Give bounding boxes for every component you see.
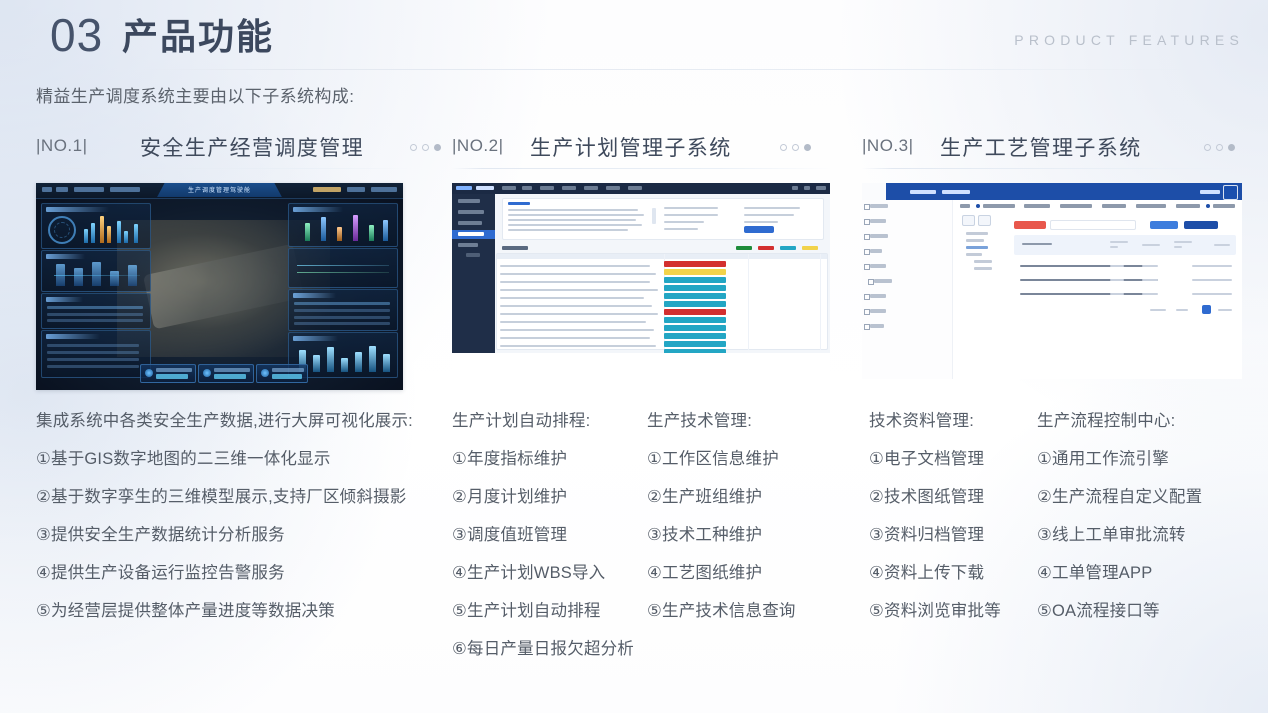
slide-header: 03 产品功能 PRODUCT FEATURES — [0, 0, 1268, 72]
card-1-header: |NO.1| 安全生产经营调度管理 — [36, 132, 411, 166]
card-1-description: 集成系统中各类安全生产数据,进行大屏可视化展示: ①基于GIS数字地图的二三维一… — [36, 402, 436, 630]
card-2-title: 生产计划管理子系统 — [530, 132, 732, 162]
col2b-heading: 生产技术管理: — [647, 402, 837, 440]
card-1-item: ④提供生产设备运行监控告警服务 — [36, 554, 436, 592]
dot-indicator — [422, 144, 429, 151]
col2b-item: ④工艺图纸维护 — [647, 554, 837, 592]
slide-page: 03 产品功能 PRODUCT FEATURES 精益生产调度系统主要由以下子系… — [0, 0, 1268, 713]
card-1-dots — [410, 144, 441, 151]
col2b-item: ②生产班组维护 — [647, 478, 837, 516]
card-1-item: ②基于数字孪生的三维模型展示,支持厂区倾斜摄影 — [36, 478, 436, 516]
col3a-item: ①电子文档管理 — [869, 440, 1039, 478]
lead-paragraph: 精益生产调度系统主要由以下子系统构成: — [36, 84, 354, 110]
card-3-header: |NO.3| 生产工艺管理子系统 — [862, 132, 1244, 166]
col3b-item: ①通用工作流引擎 — [1037, 440, 1247, 478]
col2a-item: ②月度计划维护 — [452, 478, 642, 516]
card-1-item: ③提供安全生产数据统计分析服务 — [36, 516, 436, 554]
feature-card-3: |NO.3| 生产工艺管理子系统 — [862, 132, 1244, 379]
col3b-item: ④工单管理APP — [1037, 554, 1247, 592]
dot-indicator — [804, 144, 811, 151]
feature-card-1: |NO.1| 安全生产经营调度管理 生产调度管理驾驶舱 — [36, 132, 411, 390]
page-title: 产品功能 — [122, 14, 274, 60]
card-1-item: ①基于GIS数字地图的二三维一体化显示 — [36, 440, 436, 478]
dark-production-dashboard-screenshot: 生产调度管理驾驶舱 — [36, 183, 403, 390]
dot-indicator — [434, 144, 441, 151]
dot-indicator — [792, 144, 799, 151]
col3a-item: ⑤资料浏览审批等 — [869, 592, 1039, 630]
col2a-item: ③调度值班管理 — [452, 516, 642, 554]
col2a-item: ⑤生产计划自动排程 — [452, 592, 642, 630]
card-3-number: |NO.3| — [862, 136, 914, 156]
card-2-number: |NO.2| — [452, 136, 504, 156]
card-2-header: |NO.2| 生产计划管理子系统 — [452, 132, 832, 166]
col2a-heading: 生产计划自动排程: — [452, 402, 642, 440]
col2a-item: ⑥每日产量日报欠超分析 — [452, 630, 642, 668]
col3b-heading: 生产流程控制中心: — [1037, 402, 1247, 440]
dot-indicator — [410, 144, 417, 151]
card-3-description-left: 技术资料管理: ①电子文档管理 ②技术图纸管理 ③资料归档管理 ④资料上传下载 … — [869, 402, 1039, 630]
card-3-dots — [1204, 144, 1235, 151]
card-3-title: 生产工艺管理子系统 — [940, 132, 1142, 162]
gantt-production-plan-screenshot — [452, 183, 830, 390]
col3a-heading: 技术资料管理: — [869, 402, 1039, 440]
feature-card-2: |NO.2| 生产计划管理子系统 — [452, 132, 832, 390]
col2a-item: ①年度指标维护 — [452, 440, 642, 478]
col2b-item: ③技术工种维护 — [647, 516, 837, 554]
card-3-description-right: 生产流程控制中心: ①通用工作流引擎 ②生产流程自定义配置 ③线上工单审批流转 … — [1037, 402, 1247, 630]
dot-indicator — [1216, 144, 1223, 151]
card-2-divider — [452, 168, 832, 169]
card-1-item: ⑤为经营层提供整体产量进度等数据决策 — [36, 592, 436, 630]
col3b-item: ③线上工单审批流转 — [1037, 516, 1247, 554]
card-1-number: |NO.1| — [36, 136, 88, 156]
col3a-item: ②技术图纸管理 — [869, 478, 1039, 516]
col3a-item: ③资料归档管理 — [869, 516, 1039, 554]
col3b-item: ②生产流程自定义配置 — [1037, 478, 1247, 516]
header-divider — [136, 69, 1244, 70]
document-management-screenshot — [862, 183, 1242, 379]
col3b-item: ⑤OA流程接口等 — [1037, 592, 1247, 630]
col2b-item: ⑤生产技术信息查询 — [647, 592, 837, 630]
dot-indicator — [1228, 144, 1235, 151]
card-1-divider — [36, 168, 411, 169]
card-1-title: 安全生产经营调度管理 — [140, 132, 364, 162]
card-3-divider — [862, 168, 1244, 169]
card-2-description-left: 生产计划自动排程: ①年度指标维护 ②月度计划维护 ③调度值班管理 ④生产计划W… — [452, 402, 642, 668]
card-1-intro: 集成系统中各类安全生产数据,进行大屏可视化展示: — [36, 402, 436, 440]
dot-indicator — [1204, 144, 1211, 151]
col2a-item: ④生产计划WBS导入 — [452, 554, 642, 592]
card-2-description-right: 生产技术管理: ①工作区信息维护 ②生产班组维护 ③技术工种维护 ④工艺图纸维护… — [647, 402, 837, 630]
col2b-item: ①工作区信息维护 — [647, 440, 837, 478]
page-title-english: PRODUCT FEATURES — [1014, 32, 1244, 48]
page-title-number: 03 — [50, 9, 103, 61]
card-2-dots — [780, 144, 811, 151]
dot-indicator — [780, 144, 787, 151]
col3a-item: ④资料上传下载 — [869, 554, 1039, 592]
